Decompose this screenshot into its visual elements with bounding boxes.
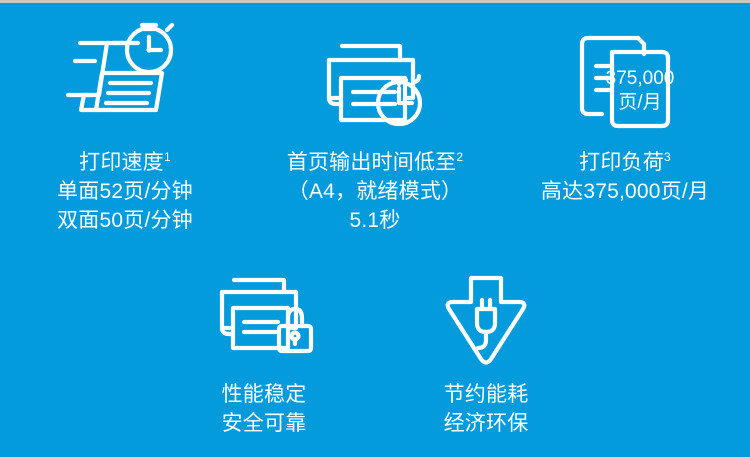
- caption-line: 安全可靠: [222, 409, 307, 438]
- feature-caption: 性能稳定 安全可靠: [222, 380, 307, 438]
- caption-text: 首页输出时间低至: [287, 151, 457, 174]
- feature-print-speed: 打印速度1 单面52页/分钟 双面50页/分钟: [0, 14, 250, 235]
- caption-line: 打印速度1: [57, 148, 193, 177]
- icon-box: [66, 14, 184, 132]
- pages-volume-icon: 375,000 页/月: [572, 28, 678, 132]
- top-edge-strip: [0, 0, 750, 3]
- caption-line: 性能稳定: [222, 380, 307, 409]
- caption-superscript: 2: [456, 150, 463, 164]
- feature-caption: 首页输出时间低至2 （A4，就绪模式） 5.1秒: [287, 148, 463, 235]
- icon-volume-number: 375,000: [606, 68, 675, 89]
- icon-box: 375,000 页/月: [572, 14, 678, 132]
- caption-text: 打印负荷: [579, 151, 664, 174]
- caption-superscript: 3: [664, 150, 671, 164]
- power-saving-plug-icon: [440, 272, 532, 366]
- caption-line: 打印负荷3: [541, 148, 709, 177]
- feature-row-bottom: 性能稳定 安全可靠: [0, 262, 750, 438]
- feature-banner: 打印速度1 单面52页/分钟 双面50页/分钟: [0, 0, 750, 457]
- document-stopwatch-icon: [66, 16, 184, 132]
- feature-reliability-security: 性能稳定 安全可靠: [153, 262, 375, 438]
- printer-clock-icon: [317, 28, 433, 132]
- icon-box: [317, 14, 433, 132]
- feature-caption: 节约能耗 经济环保: [444, 380, 529, 438]
- feature-caption: 打印速度1 单面52页/分钟 双面50页/分钟: [57, 148, 193, 235]
- printer-lock-icon: [212, 272, 316, 366]
- caption-line: 5.1秒: [287, 206, 463, 235]
- feature-caption: 打印负荷3 高达375,000页/月: [541, 148, 709, 206]
- feature-energy-saving: 节约能耗 经济环保: [375, 262, 597, 438]
- caption-superscript: 1: [164, 150, 171, 164]
- feature-row-top: 打印速度1 单面52页/分钟 双面50页/分钟: [0, 14, 750, 235]
- caption-line: 单面52页/分钟: [57, 177, 193, 206]
- icon-box: [440, 262, 532, 366]
- icon-box: [212, 262, 316, 366]
- caption-text: 打印速度: [79, 151, 164, 174]
- caption-line: 双面50页/分钟: [57, 206, 193, 235]
- feature-first-page-out-time: 首页输出时间低至2 （A4，就绪模式） 5.1秒: [250, 14, 500, 235]
- caption-line: 节约能耗: [444, 380, 529, 409]
- icon-volume-unit: 页/月: [618, 92, 661, 113]
- caption-line: 经济环保: [444, 409, 529, 438]
- caption-line: （A4，就绪模式）: [287, 177, 463, 206]
- feature-print-volume: 375,000 页/月 打印负荷3 高达375,000页/月: [500, 14, 750, 206]
- caption-line: 高达375,000页/月: [541, 177, 709, 206]
- caption-line: 首页输出时间低至2: [287, 148, 463, 177]
